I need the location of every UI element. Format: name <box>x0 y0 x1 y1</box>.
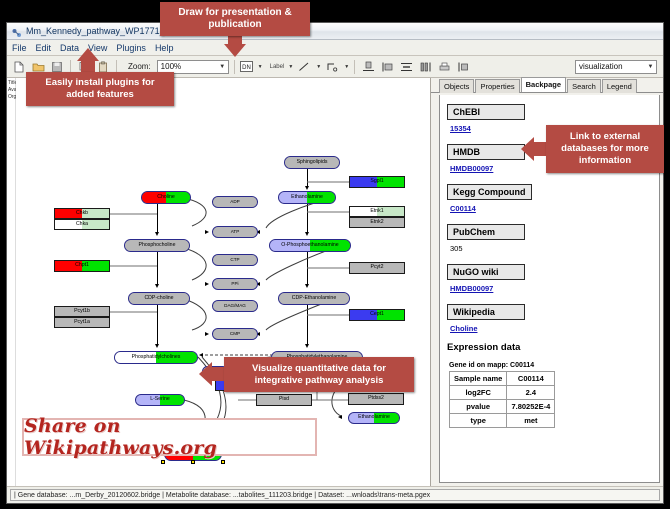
arrowhead-icon <box>305 232 309 236</box>
selection-handle[interactable] <box>221 460 225 464</box>
backpage-header-chebi: ChEBI <box>447 104 525 120</box>
node-chkb[interactable]: Chkb <box>54 208 110 219</box>
node-label: CDP-Ethanolamine <box>292 296 336 301</box>
callout-visualize: Visualize quantitative data for integrat… <box>224 357 414 392</box>
node-pisd[interactable]: Pisd <box>256 394 312 406</box>
share-banner: Share on Wikipathways.org <box>22 418 317 456</box>
node-chpt1[interactable]: Chpt1 <box>54 260 110 272</box>
node-label: Phosphocholine <box>139 243 176 248</box>
node-label: CDP-choline <box>144 296 173 301</box>
callout-draw-tail <box>224 44 246 57</box>
node-label: Chka <box>76 222 88 227</box>
svg-text:DN: DN <box>242 65 251 71</box>
align-left-icon[interactable] <box>379 59 395 75</box>
node-label: CTP <box>230 258 239 263</box>
table-row: type met <box>450 414 555 428</box>
share-banner-text: Share on Wikipathways.org <box>24 415 315 459</box>
line-dropdown-icon[interactable]: ▼ <box>316 64 321 70</box>
node-chka[interactable]: Chka <box>54 219 110 230</box>
node-lserine-left[interactable]: L-Serine <box>135 394 185 406</box>
node-pcyt1a[interactable]: Pcyt1a <box>54 317 110 328</box>
cell-value: 7.80252E-4 <box>507 400 555 414</box>
node-sgpl1[interactable]: Sgpl1 <box>349 176 405 188</box>
node-label: ATP <box>231 230 240 235</box>
node-label: O-Phosphoethanolamine <box>281 243 338 248</box>
distribute-icon[interactable] <box>417 59 433 75</box>
node-cmp[interactable]: CMP <box>212 328 258 340</box>
align-center-icon[interactable] <box>398 59 414 75</box>
arrowhead-icon <box>305 186 309 190</box>
arrowhead-icon <box>155 284 159 288</box>
node-label: L-Serine <box>150 397 170 402</box>
edge-choline-to-phosphocholine <box>157 204 158 234</box>
cell-value: met <box>507 414 555 428</box>
selection-handle[interactable] <box>161 460 165 464</box>
tab-backpage[interactable]: Backpage <box>521 77 566 92</box>
node-ppi[interactable]: PPi <box>212 278 258 290</box>
node-choline-top[interactable]: Choline <box>141 191 191 204</box>
node-label: CMP <box>230 332 240 337</box>
receptor-dropdown-icon[interactable]: ▼ <box>344 64 349 70</box>
visualization-value: visualization <box>579 62 623 71</box>
backpage-value-pubchem: 305 <box>450 244 659 253</box>
cell-label: pvalue <box>450 400 507 414</box>
callout-plugins-tail <box>77 48 99 61</box>
edge-pethn-to-cdpethn <box>307 252 308 285</box>
canvas-label-title: Title: <box>7 80 15 87</box>
align-top-icon[interactable] <box>360 59 376 75</box>
backpage-link-wikipedia[interactable]: Choline <box>450 324 659 333</box>
node-label: Sphingolipids <box>297 160 328 165</box>
callout-visualize-stem <box>211 367 225 381</box>
edge-cdpethn-to-pe <box>307 305 308 345</box>
node-label: Cept1 <box>370 312 384 317</box>
node-ethanolamine-top[interactable]: Ethanolamine <box>278 191 336 204</box>
callout-draw: Draw for presentation & publication <box>160 2 310 36</box>
edge-cdpcholine-to-pc <box>157 305 158 345</box>
node-label: Chpt1 <box>75 263 89 268</box>
backpage-header-nugo: NuGO wiki <box>447 264 525 280</box>
callout-visualize-tail <box>199 362 212 386</box>
receptor-tool-icon[interactable] <box>324 59 340 75</box>
arrowhead-icon <box>205 282 209 286</box>
arrowhead-icon <box>305 284 309 288</box>
node-pcyt1b[interactable]: Pcyt1b <box>54 306 110 317</box>
node-label: DAG/MAG <box>224 304 246 309</box>
edge-etn-to-pethn <box>307 204 308 234</box>
cell-value: C00114 <box>507 372 555 386</box>
node-label: Phosphatidylcholines <box>132 355 181 360</box>
edge-phosphocholine-to-cdpcholine <box>157 252 158 285</box>
gene-id-line: Gene id on mapp: C00114 <box>449 362 659 369</box>
visualization-combo[interactable]: visualization ▼ <box>575 60 657 74</box>
node-label: Pcyt1b <box>74 309 90 314</box>
label-tool-label[interactable]: Label <box>270 64 285 70</box>
node-cdp-choline[interactable]: CDP-choline <box>128 292 190 305</box>
table-row: pvalue 7.80252E-4 <box>450 400 555 414</box>
node-etnk1[interactable]: Etnk1 <box>349 206 405 217</box>
table-row: log2FC 2.4 <box>450 386 555 400</box>
app-icon <box>11 26 22 37</box>
node-label: Chkb <box>76 211 88 216</box>
print-icon[interactable] <box>436 59 452 75</box>
node-etnk2[interactable]: Etnk2 <box>349 217 405 228</box>
node-phosphocholine[interactable]: Phosphocholine <box>124 239 190 252</box>
node-label: Choline <box>157 195 175 200</box>
callout-links-stem <box>533 142 547 156</box>
backpage-header-hmdb: HMDB <box>447 144 525 160</box>
node-adp[interactable]: ADP <box>212 196 258 208</box>
arrowhead-icon <box>305 344 309 348</box>
canvas-info-labels: Title: Availa Organi <box>7 78 16 486</box>
node-sphingolipids[interactable]: Sphingolipids <box>284 156 340 169</box>
menu-help[interactable]: Help <box>155 43 174 53</box>
node-ctp[interactable]: CTP <box>212 254 258 266</box>
node-label: Sgpl1 <box>370 179 383 184</box>
cell-label: type <box>450 414 507 428</box>
tab-legend[interactable]: Legend <box>602 79 637 93</box>
callout-links-tail <box>521 137 534 161</box>
node-label: Pcyt1a <box>74 320 90 325</box>
arrowhead-icon <box>205 230 209 234</box>
selection-handle[interactable] <box>191 460 195 464</box>
node-label: Pcyt2 <box>371 265 384 270</box>
cell-label: Sample name <box>450 372 507 386</box>
canvas-label-availability: Availa <box>7 87 15 94</box>
node-label: PPi <box>231 282 238 287</box>
callout-plugins: Easily install plugins for added feature… <box>26 72 174 106</box>
toolbar-separator <box>354 60 355 74</box>
statusbar: | Gene database: ...m_Derby_20120602.bri… <box>7 486 663 503</box>
backpage-link-nugo[interactable]: HMDB00097 <box>450 284 659 293</box>
canvas-label-organism: Organi <box>7 94 15 101</box>
node-plxs2[interactable]: Ptdss2 <box>348 393 404 405</box>
line-tool-icon[interactable] <box>296 59 312 75</box>
arrowhead-icon <box>155 232 159 236</box>
node-label: ADP <box>230 200 239 205</box>
backpage-link-kegg[interactable]: C00114 <box>450 204 659 213</box>
table-row: Sample name C00114 <box>450 372 555 386</box>
node-label: Etnk1 <box>370 209 383 214</box>
new-file-icon[interactable] <box>11 59 27 75</box>
callout-plugins-stem <box>81 60 95 72</box>
datanode-icon[interactable]: DN <box>240 59 254 75</box>
expression-data-title: Expression data <box>447 342 659 353</box>
node-label: Ethanolamine <box>358 415 390 420</box>
expression-data-table: Sample name C00114 log2FC 2.4 pvalue 7.8… <box>449 371 555 428</box>
node-cept1[interactable]: Cept1 <box>349 309 405 321</box>
node-cdp-ethanolamine[interactable]: CDP-Ethanolamine <box>278 292 350 305</box>
node-ethanolamine-right[interactable]: Ethanolamine <box>348 412 400 424</box>
chevron-down-icon[interactable]: ▼ <box>645 61 656 73</box>
arrowhead-icon <box>155 344 159 348</box>
tab-search[interactable]: Search <box>567 79 601 93</box>
arrowhead-icon <box>205 332 209 336</box>
label-dropdown-icon[interactable]: ▼ <box>288 64 293 70</box>
zoom-value: 100% <box>161 62 181 71</box>
status-text: | Gene database: ...m_Derby_20120602.bri… <box>10 489 660 501</box>
node-label: Ethanolamine <box>291 195 323 200</box>
callout-links: Link to external databases for more info… <box>546 125 664 173</box>
backpage-header-wikipedia: Wikipedia <box>447 304 525 320</box>
node-o-phosphoethanolamine[interactable]: O-Phosphoethanolamine <box>269 239 351 252</box>
tab-properties[interactable]: Properties <box>475 79 519 93</box>
menubar: File Edit Data View Plugins Help <box>7 40 663 56</box>
cell-label: log2FC <box>450 386 507 400</box>
toolbar-separator <box>234 60 235 74</box>
menu-file[interactable]: File <box>12 43 27 53</box>
menu-edit[interactable]: Edit <box>36 43 52 53</box>
backpage-header-kegg: Kegg Compound <box>447 184 532 200</box>
node-label: Etnk2 <box>370 220 383 225</box>
datanode-dropdown-icon[interactable]: ▼ <box>258 64 263 70</box>
node-label: Ptdss2 <box>368 396 384 401</box>
chevron-down-icon[interactable]: ▼ <box>217 61 228 73</box>
cell-value: 2.4 <box>507 386 555 400</box>
group-icon[interactable] <box>455 59 471 75</box>
window-titlebar: Mm_Kennedy_pathway_WP1771_45176.gpml <box>7 23 663 40</box>
backpage-header-pubchem: PubChem <box>447 224 525 240</box>
zoom-label: Zoom: <box>128 62 151 71</box>
node-dagmag[interactable]: DAG/MAG <box>212 300 258 312</box>
arrowhead-icon <box>199 353 203 357</box>
node-phosphatidylcholines[interactable]: Phosphatidylcholines <box>114 351 198 364</box>
side-panel-tabstrip: Objects Properties Backpage Search Legen… <box>431 78 663 93</box>
node-label: Pisd <box>279 397 289 402</box>
arrowhead-icon <box>338 415 342 419</box>
menu-plugins[interactable]: Plugins <box>116 43 146 53</box>
tab-objects[interactable]: Objects <box>439 79 474 93</box>
node-pcyt2[interactable]: Pcyt2 <box>349 262 405 274</box>
node-atp[interactable]: ATP <box>212 226 258 238</box>
